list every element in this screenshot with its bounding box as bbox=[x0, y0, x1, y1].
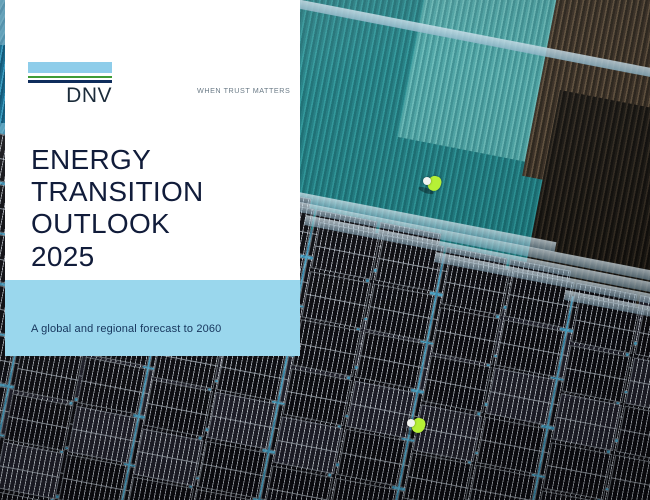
page-title: ENERGY TRANSITION OUTLOOK 2025 bbox=[31, 144, 204, 273]
dnv-logo-bars-icon bbox=[28, 62, 112, 83]
logo-bar-light-blue bbox=[28, 62, 112, 73]
subtitle-band: A global and regional forecast to 2060 bbox=[5, 280, 300, 356]
title-line-1: ENERGY bbox=[31, 144, 204, 176]
title-line-3: OUTLOOK bbox=[31, 208, 204, 240]
hard-hat bbox=[423, 177, 431, 185]
left-edge-photo-sliver bbox=[0, 45, 5, 123]
title-line-4: 2025 bbox=[31, 241, 204, 273]
logo-bar-navy bbox=[28, 80, 112, 83]
dnv-logo[interactable]: DNV bbox=[28, 62, 112, 106]
hard-hat bbox=[407, 419, 415, 427]
cover-subtitle: A global and regional forecast to 2060 bbox=[31, 323, 221, 335]
brand-tagline: WHEN TRUST MATTERS bbox=[197, 86, 290, 95]
dnv-wordmark: DNV bbox=[28, 85, 112, 106]
report-cover-page: DNV WHEN TRUST MATTERS ENERGY TRANSITION… bbox=[0, 0, 650, 500]
title-line-2: TRANSITION bbox=[31, 176, 204, 208]
cover-card: DNV WHEN TRUST MATTERS ENERGY TRANSITION… bbox=[5, 0, 300, 356]
